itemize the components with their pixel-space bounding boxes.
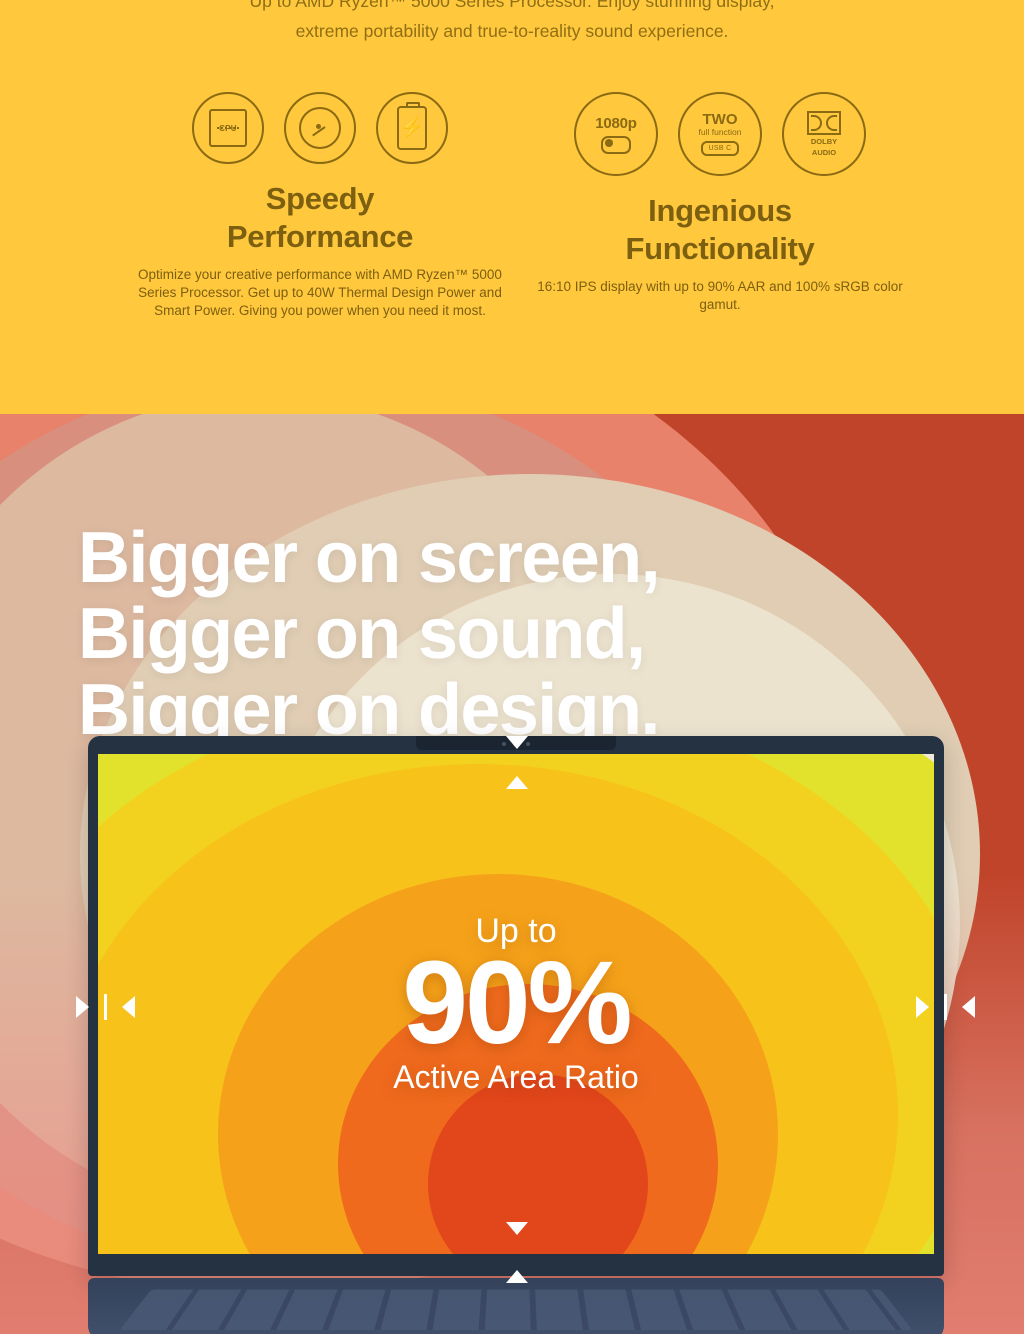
feature-title-left: Speedy Performance	[120, 180, 520, 256]
measure-marker-left	[76, 994, 135, 1020]
feature-title-left-line2: Performance	[120, 218, 520, 256]
speed-gauge-icon	[284, 92, 356, 164]
dolby-brand-label: DOLBY	[807, 137, 841, 146]
webcam-1080p-icon: 1080p	[574, 92, 658, 176]
product-page: Up to AMD Ryzen™ 5000 Series Processor. …	[0, 0, 1024, 1334]
measure-marker-bottom	[506, 1270, 528, 1283]
hero-banner: Bigger on screen, Bigger on sound, Bigge…	[0, 414, 1024, 1334]
measure-marker-right	[916, 994, 975, 1020]
intro-line-1: Up to AMD Ryzen™ 5000 Series Processor. …	[0, 0, 1024, 16]
intro-line-2: extreme portability and true-to-reality …	[0, 16, 1024, 46]
feature-title-left-line1: Speedy	[120, 180, 520, 218]
feature-ingenious-functionality: 1080p TWO full function USB C	[520, 92, 920, 314]
measure-marker-bottom-inner	[506, 1222, 528, 1235]
laptop-lid: Up to 90% Active Area Ratio	[88, 736, 944, 1276]
feature-title-right-line1: Ingenious	[520, 192, 920, 230]
measure-marker-top	[506, 736, 528, 749]
dolby-audio-icon: DOLBY AUDIO	[782, 92, 866, 176]
usb-c-port-label: USB C	[701, 141, 739, 156]
feature-body-left: Optimize your creative performance with …	[120, 266, 520, 320]
toggle-shape-icon	[601, 136, 631, 154]
cpu-icon: CPU	[192, 92, 264, 164]
feature-title-right-line2: Functionality	[520, 230, 920, 268]
usb-c-count-label: TWO	[699, 112, 742, 127]
battery-bolt-icon: ⚡	[376, 92, 448, 164]
feature-title-right: Ingenious Functionality	[520, 192, 920, 268]
screen-stat-value: 90%	[402, 944, 629, 1062]
feature-body-right: 16:10 IPS display with up to 90% AAR and…	[520, 278, 920, 314]
hero-headline-line1: Bigger on screen,	[78, 520, 659, 596]
feature-speedy-performance: CPU ⚡ Speedy Performance Optimize your c…	[120, 92, 520, 320]
hero-headline-line2: Bigger on sound,	[78, 596, 659, 672]
cpu-icon-label: CPU	[219, 124, 237, 133]
laptop-keyboard	[120, 1290, 913, 1331]
dolby-audio-label: AUDIO	[807, 148, 841, 157]
feature-icons-right: 1080p TWO full function USB C	[520, 92, 920, 176]
intro-paragraph: Up to AMD Ryzen™ 5000 Series Processor. …	[0, 0, 1024, 46]
laptop-screen: Up to 90% Active Area Ratio	[98, 754, 934, 1254]
laptop-illustration: Up to 90% Active Area Ratio	[88, 736, 944, 1334]
features-panel: Up to AMD Ryzen™ 5000 Series Processor. …	[0, 0, 1024, 414]
feature-icons-left: CPU ⚡	[120, 92, 520, 164]
screen-stat-block: Up to 90% Active Area Ratio	[98, 754, 934, 1254]
hero-headline: Bigger on screen, Bigger on sound, Bigge…	[78, 520, 659, 748]
screen-stat-caption: Active Area Ratio	[393, 1058, 638, 1096]
laptop-base	[88, 1278, 944, 1334]
usb-c-function-label: full function	[699, 127, 742, 138]
measure-marker-top-inner	[506, 776, 528, 789]
webcam-1080p-label: 1080p	[595, 115, 637, 132]
usb-c-two-icon: TWO full function USB C	[678, 92, 762, 176]
